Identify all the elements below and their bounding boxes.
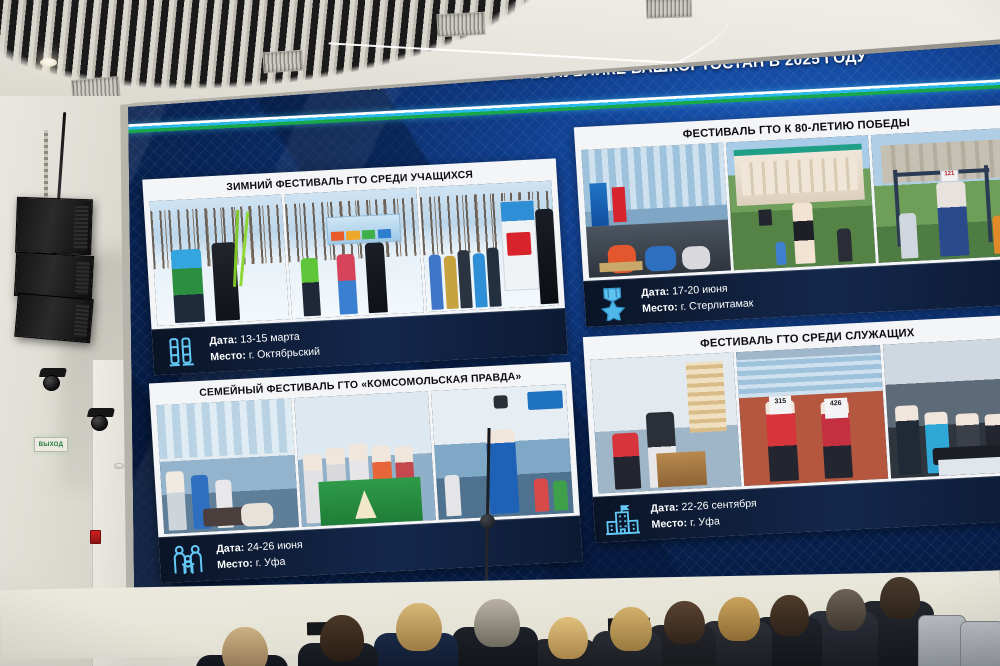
attendee-head [826,589,866,631]
card-photo-strip [149,181,560,329]
camera-dome-icon [43,375,60,391]
attendee-head [718,597,760,641]
seat-back [918,615,966,666]
smoke-detector-icon [114,463,124,469]
date-label: Дата: [650,502,679,515]
date-value: 17-20 июня [672,283,728,298]
card-photo-strip: 121 [580,128,1000,281]
place-label: Место: [217,557,253,571]
photo-pullup-bar-121: 121 [871,128,1000,263]
ceiling-vent [436,12,485,37]
attendee-head [880,577,920,619]
attendee-head [770,595,809,636]
fire-alarm-call-point [90,530,101,544]
star-medal-icon [592,283,634,323]
date-label: Дата: [216,542,245,555]
photo-indoor-pushups [581,143,731,278]
presentation-slide: ФЕСТИВАЛИ ВСЕРОССИЙСКОГО ФИЗКУЛЬТУРНО-СП… [122,42,1000,607]
exit-sign: ВЫХОД [34,437,68,452]
microphone-head-icon [480,514,495,529]
photo-kettlebell-lift [431,385,573,520]
skis-icon [160,331,202,371]
attendee-head [610,607,652,651]
attendee-head [474,599,520,647]
line-array-speaker-top [15,197,93,256]
speaker-rigging-chain [44,130,48,204]
photo-family-with-flag [294,392,436,527]
attendee-head [222,627,268,666]
card-footer-text: Дата: 22-26 сентября Место: г. Уфа [650,497,758,533]
photo-ski-racers-forest [150,195,290,326]
card-footer-text: Дата: 24-26 июня Место: г. Уфа [216,538,304,573]
card-photo-strip: 315 426 [589,338,1000,497]
photo-skiers-at-banner [284,188,424,319]
attendee-head [664,601,705,644]
card-footer-text: Дата: 17-20 июня Место: г. Стерлитамак [641,281,754,317]
place-label: Место: [651,517,687,531]
audience-seating [0,571,1000,666]
photo-outdoor-runner [726,136,876,271]
date-value: 24-26 июня [247,539,303,554]
card-photo-strip [155,384,575,537]
place-value: г. Уфа [255,555,286,569]
date-value: 22-26 сентября [681,498,757,514]
place-value: г. Октябрьский [248,345,320,361]
photo-runners-315-426: 315 426 [736,345,887,486]
place-value: г. Уфа [690,515,721,529]
exit-sign-label: ВЫХОД [39,442,63,448]
camera-dome-icon [91,415,108,431]
place-value: г. Стерлитамак [680,297,753,313]
ceiling-vent [262,50,303,74]
card-footer-text: Дата: 13-15 марта Место: г. Октябрьский [209,329,321,365]
photo-gym-situps [156,399,298,534]
date-value: 13-15 марта [240,331,300,346]
photo-gym-vault [590,353,741,494]
ceiling-downlight [40,58,57,67]
date-label: Дата: [209,334,238,347]
line-array-speaker-bottom [14,293,94,343]
date-label: Дата: [641,286,670,299]
festival-card-family-kp: СЕМЕЙНЫЙ ФЕСТИВАЛЬ ГТО «КОМСОМОЛЬСКАЯ ПР… [149,362,583,583]
attendee-head [396,603,442,651]
place-label: Место: [210,349,246,363]
place-label: Место: [642,301,678,315]
festival-cards-grid: ЗИМНИЙ ФЕСТИВАЛЬ ГТО СРЕДИ УЧАЩИХСЯ [134,100,1000,597]
led-video-wall: ФЕСТИВАЛИ ВСЕРОССИЙСКОГО ФИЗКУЛЬТУРНО-СП… [122,42,1000,607]
attendee-head [548,617,588,659]
festival-card-victory-80: ФЕСТИВАЛЬ ГТО К 80-ЛЕТИЮ ПОБЕДЫ [574,104,1000,326]
attendee-head [320,615,364,661]
photo-start-zone-crowd [419,181,559,312]
festival-card-winter-students: ЗИМНИЙ ФЕСТИВАЛЬ ГТО СРЕДИ УЧАЩИХСЯ [142,158,568,375]
screenshot-root: ВЫХОД ФЕСТИВАЛИ ВСЕРОССИЙСКОГО ФИЗКУЛЬТУ… [0,0,1000,666]
seat-back [960,621,1000,666]
festival-card-civil-servants: ФЕСТИВАЛЬ ГТО СРЕДИ СЛУЖАЩИХ [583,314,1000,543]
government-building-icon [601,499,643,539]
ceiling-vent [646,0,693,19]
photo-shooting-range [883,338,1000,479]
